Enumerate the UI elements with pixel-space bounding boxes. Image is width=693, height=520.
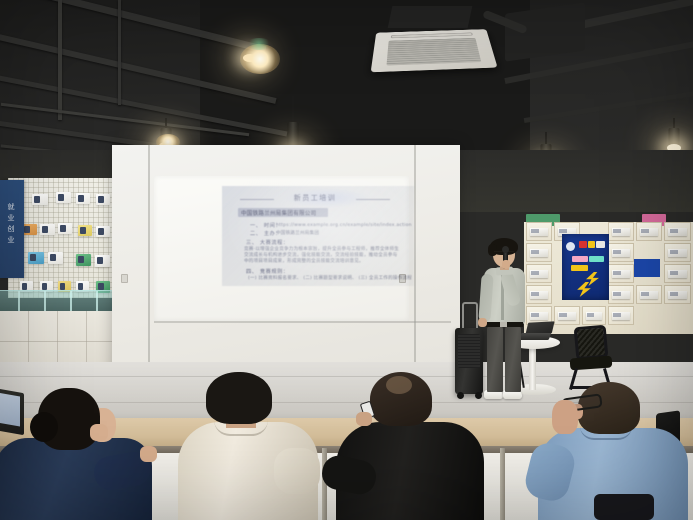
ceiling-cassette-ac-icon <box>371 29 498 72</box>
shelf-book <box>48 252 63 264</box>
shelf-cell <box>608 285 634 304</box>
slide-title: 新员工培训 <box>280 193 350 203</box>
shelf-book <box>76 254 91 266</box>
light-flare-green <box>246 38 272 50</box>
presenter-left-hand <box>478 318 487 327</box>
blue-vertical-banner: 就业创业 <box>0 180 24 278</box>
slide-line: (一) 比赛资料报名要求、 (二) 比赛题型要求说明、 (三) 全员工作的操作流… <box>248 276 412 282</box>
attendee-1-hand <box>90 424 108 441</box>
attendee-3-hand <box>356 412 372 426</box>
presenter-belt-buckle <box>500 322 507 327</box>
attendee-4-hand <box>552 400 578 434</box>
poster-chip <box>588 241 595 248</box>
shelf-book <box>78 225 92 236</box>
attendee-1-hair-bun <box>30 412 58 442</box>
shelf-book <box>40 224 55 235</box>
glass-top-counter <box>0 290 114 312</box>
shelf-cell <box>608 264 634 283</box>
shelf-cell <box>582 306 606 325</box>
slide-subtitle-bar: 中国铁路兰州局集团有限公司 <box>238 208 328 217</box>
shelf-book <box>76 193 90 204</box>
chair-backrest <box>574 325 609 361</box>
banner-text: 就业创业 <box>5 202 18 246</box>
slide-paragraph: 竞赛·以增强企业竞争力为根本宗旨，提升全员参与工程师，推荐全体师生交流成长与机构… <box>244 247 402 265</box>
shelf-book <box>95 255 110 267</box>
shelf-cell <box>554 306 580 325</box>
title-rule-right <box>356 199 390 200</box>
poster-chip <box>579 241 587 248</box>
ceiling-beam-vertical <box>118 0 121 105</box>
shelf-cell <box>664 285 691 304</box>
shelf-book <box>96 226 110 237</box>
shelf-cell <box>608 243 634 262</box>
blue-promotional-poster <box>562 234 609 300</box>
wall-fixing <box>121 274 128 283</box>
poster-logo-circle <box>566 242 575 251</box>
ac-grille <box>386 38 481 66</box>
slide-heading: 四、 竞赛规则： <box>246 268 289 275</box>
shelf-book <box>56 192 71 203</box>
presenter-trousers <box>487 326 522 392</box>
ac-mount-bracket <box>388 6 473 28</box>
shelf-cell <box>664 264 691 283</box>
shelf-book <box>22 224 37 235</box>
attendee-1 <box>0 388 144 520</box>
poster-chip <box>571 265 588 271</box>
presenter-right-hand <box>502 260 510 269</box>
ceiling-duct <box>505 2 585 61</box>
shelf-cell <box>664 222 691 241</box>
table-leg <box>500 448 505 520</box>
shelf-book <box>32 194 48 205</box>
projected-slide: 新员工培训 中国铁路兰州局集团有限公司 一、 时间： https://www.e… <box>222 186 414 286</box>
attendee-1-hand <box>140 446 157 462</box>
shelf-book <box>58 223 72 234</box>
shelf-cell <box>608 306 634 325</box>
accent-panel-blue <box>634 259 660 277</box>
slide-line: 中国铁路兰州局集团 <box>276 231 319 237</box>
attendee-2-sleeve <box>274 448 320 494</box>
shelf-cell <box>636 222 662 241</box>
attendee-3 <box>338 372 476 520</box>
slide-line: https://www.example.org.cn/example/site/… <box>276 223 412 229</box>
left-display-wall: 就业创业 <box>0 178 114 368</box>
ceiling-beam-vertical <box>58 0 62 120</box>
attendee-3-scalp <box>386 376 412 394</box>
presentation-room-photo: 就业创业 <box>0 0 693 520</box>
poster-chip <box>596 241 605 248</box>
shelf-cell <box>636 285 662 304</box>
ceiling-beam <box>524 90 693 123</box>
poster-chip <box>572 256 588 262</box>
slide-subtitle-text: 中国铁路兰州局集团有限公司 <box>241 209 316 217</box>
attendee-2-hair <box>206 372 272 424</box>
shelf-book <box>96 194 110 205</box>
foreground-chair[interactable] <box>594 494 654 520</box>
title-rule-left <box>240 199 274 200</box>
shelf-book <box>28 252 44 264</box>
shelf-cell <box>664 243 691 262</box>
presenter <box>476 238 536 406</box>
wall-seam-horizontal <box>154 321 451 323</box>
slide-heading: 三、 大赛流程： <box>246 239 289 246</box>
shelf-cell <box>608 222 634 241</box>
attendee-2 <box>178 372 310 520</box>
poster-chip <box>589 256 604 262</box>
